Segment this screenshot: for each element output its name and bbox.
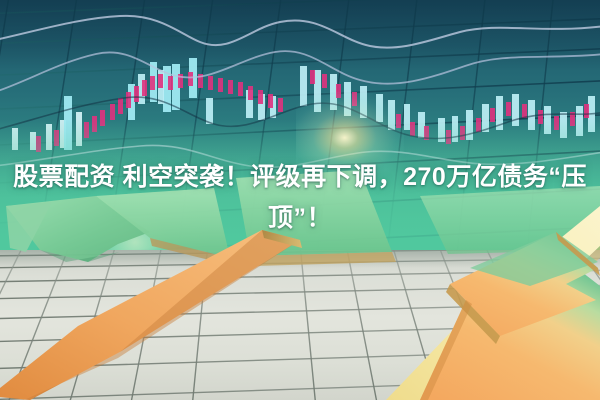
banner-canvas: 股票配资 利空突袭！评级再下调，270万亿债务“压顶”！ <box>0 0 600 400</box>
perspective-tile-floor <box>0 250 600 400</box>
headline-line-1: 股票配资 利空突袭！评级再下调，270万亿债务“ <box>13 163 561 191</box>
headline-text: 股票配资 利空突袭！评级再下调，270万亿债务“压顶”！ <box>0 157 600 239</box>
